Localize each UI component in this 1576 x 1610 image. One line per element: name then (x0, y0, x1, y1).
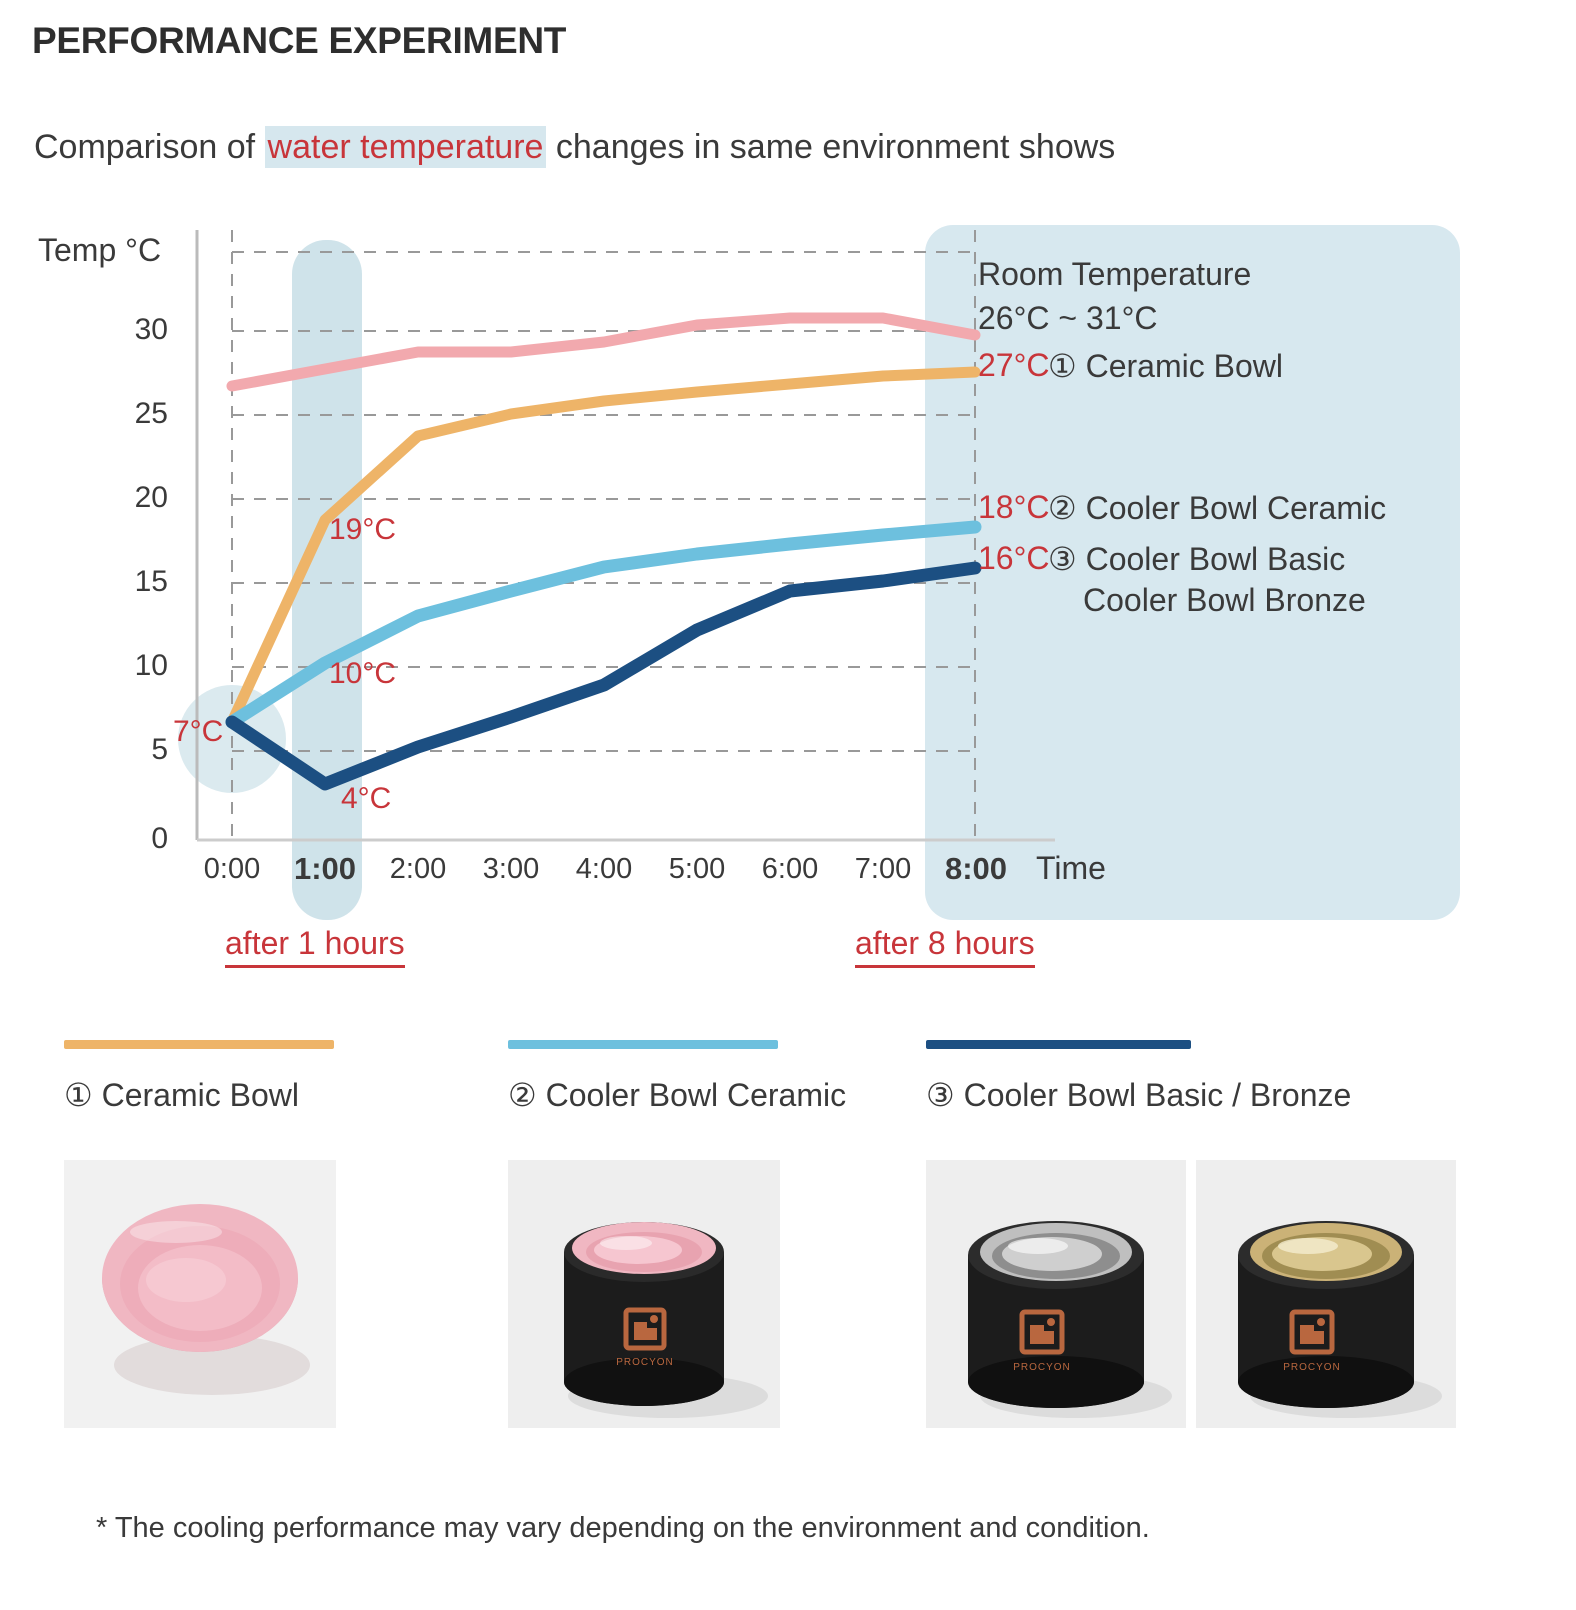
legend-label-cooler-basic: ③ Cooler Bowl Basic (1048, 540, 1345, 578)
legend-item-cooler-bowl-ceramic: ② Cooler Bowl Ceramic (508, 1040, 778, 1114)
legend-text-ceramic-bowl: ① Ceramic Bowl (64, 1076, 334, 1114)
legend-item-cooler-bowl-basic: ③ Cooler Bowl Basic / Bronze (926, 1040, 1191, 1114)
y-tick-5: 5 (108, 733, 168, 767)
legend-label-ceramic: ① Ceramic Bowl (1048, 347, 1283, 385)
cooler-bowl-basic-photo: PROCYON (926, 1160, 1186, 1428)
product-legend: ① Ceramic Bowl ② Cooler Bowl Ceramic ③ C… (0, 1040, 1576, 1140)
page-title: PERFORMANCE EXPERIMENT (32, 20, 566, 62)
subtitle-text-after: changes in same environment shows (546, 128, 1115, 166)
legend-text-cooler-bowl-ceramic: ② Cooler Bowl Ceramic (508, 1076, 778, 1114)
temperature-chart: Temp °C Time 30 25 20 15 10 5 0 0:00 1:0… (0, 210, 1576, 1000)
y-tick-20: 20 (108, 481, 168, 515)
y-tick-25: 25 (108, 397, 168, 431)
y-tick-30: 30 (108, 313, 168, 347)
svg-text:PROCYON: PROCYON (1013, 1362, 1071, 1373)
cooler-bowl-basic-image: PROCYON (926, 1160, 1186, 1428)
legend-value-ceramic: 27°C (978, 347, 1050, 384)
cooler-bowl-bronze-image: PROCYON (1196, 1160, 1456, 1428)
legend-room-temperature-range: 26°C ~ 31°C (978, 300, 1157, 337)
page-subtitle: Comparison of water temperature changes … (34, 128, 1115, 167)
legend-swatch-cooler-bowl-ceramic (508, 1040, 778, 1049)
subtitle-highlight: water temperature (265, 126, 547, 168)
annotation-cooler-ceramic-1h: 10°C (329, 657, 396, 691)
ceramic-bowl-image (64, 1160, 336, 1428)
footnote-text: * The cooling performance may vary depen… (96, 1512, 1150, 1545)
x-axis-title: Time (1036, 850, 1106, 887)
y-axis-title: Temp °C (38, 232, 161, 269)
cooler-bowl-ceramic-image: PROCYON (508, 1160, 780, 1428)
legend-label-cooler-ceramic: ② Cooler Bowl Ceramic (1048, 489, 1386, 527)
y-tick-15: 15 (108, 565, 168, 599)
after-1-hours-label: after 1 hours (225, 925, 405, 968)
legend-label-cooler-bronze: Cooler Bowl Bronze (1083, 582, 1366, 619)
annotation-ceramic-1h: 19°C (329, 513, 396, 547)
legend-value-cooler-ceramic: 18°C (978, 489, 1050, 526)
y-tick-0: 0 (108, 822, 168, 856)
legend-value-cooler-basic: 16°C (978, 540, 1050, 577)
svg-text:PROCYON: PROCYON (616, 1357, 674, 1368)
annotation-cooler-basic-1h: 4°C (341, 782, 391, 816)
legend-text-cooler-bowl-basic: ③ Cooler Bowl Basic / Bronze (926, 1076, 1191, 1114)
ceramic-bowl-photo (64, 1160, 336, 1428)
legend-swatch-cooler-bowl-basic (926, 1040, 1191, 1049)
subtitle-text-before: Comparison of (34, 128, 265, 166)
after-8-hours-label: after 8 hours (855, 925, 1035, 968)
annotation-start-temp: 7°C (173, 715, 223, 749)
legend-item-ceramic-bowl: ① Ceramic Bowl (64, 1040, 334, 1114)
cooler-bowl-ceramic-photo: PROCYON (508, 1160, 780, 1428)
cooler-bowl-bronze-photo: PROCYON (1196, 1160, 1456, 1428)
y-tick-10: 10 (108, 649, 168, 683)
x-tick-8: 8:00 (921, 851, 1031, 887)
svg-text:PROCYON: PROCYON (1283, 1362, 1341, 1373)
legend-room-temperature-name: Room Temperature (978, 256, 1251, 293)
legend-swatch-ceramic-bowl (64, 1040, 334, 1049)
